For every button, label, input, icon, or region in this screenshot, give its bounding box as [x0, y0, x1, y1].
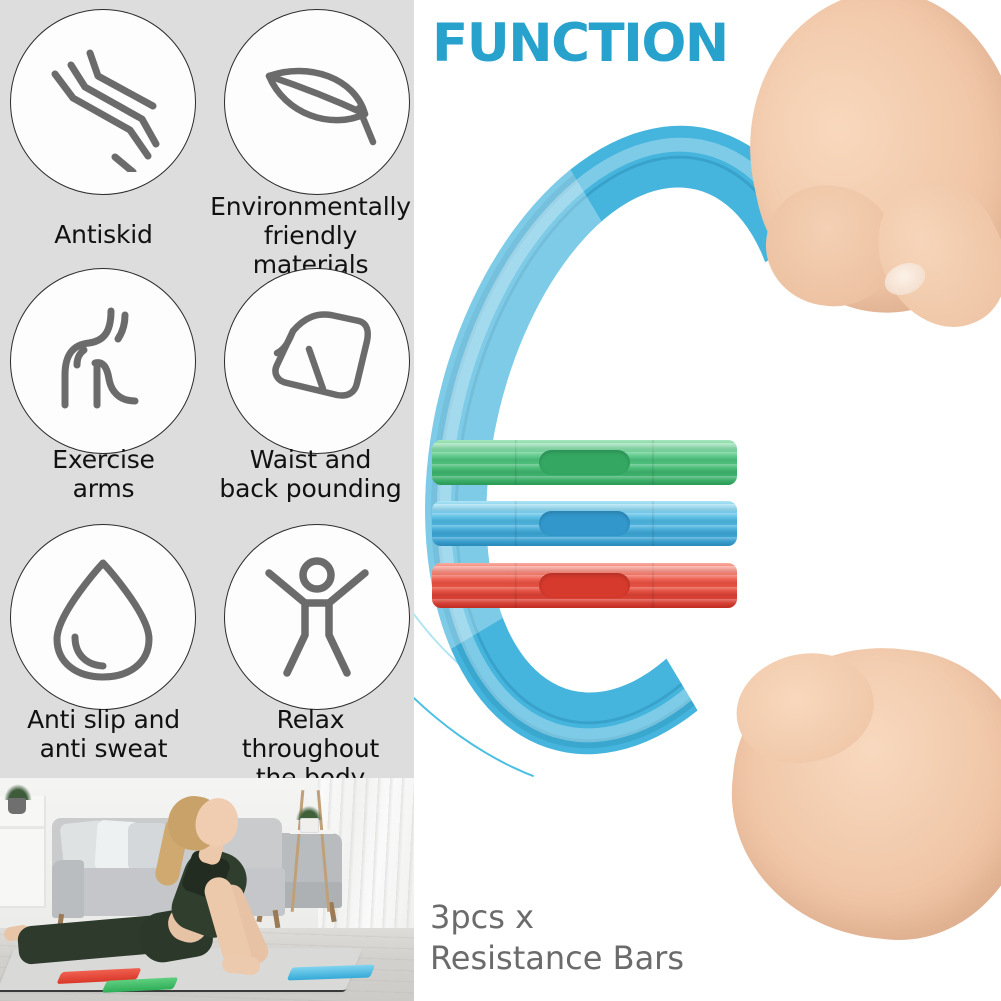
green-bar-grip: [539, 450, 631, 475]
feature-label-anti-sweat: Anti slip and anti sweat: [0, 705, 207, 763]
feature-icon-circle-waist-back: [224, 268, 410, 454]
product-caption: 3pcs x Resistance Bars: [430, 897, 684, 979]
photo-sofa-arm: [52, 860, 84, 918]
red-resistance-bar: [432, 563, 737, 608]
feature-icon-circle-anti-sweat: [10, 524, 196, 710]
feature-label-eco: Environmentally friendly materials: [207, 192, 414, 279]
product-hero-section: FUNCTION 3pcs x Resistance Bars: [414, 0, 1001, 1001]
feature-icon-circle-eco: [224, 9, 410, 195]
feature-label-waist-back: Waist and back pounding: [207, 445, 414, 503]
photo-plant-right-pot: [300, 818, 319, 833]
leaf-icon: [247, 32, 387, 172]
photo-plant-left-pot: [8, 798, 26, 814]
green-resistance-bar: [432, 440, 737, 485]
feature-label-antiskid: Antiskid: [0, 220, 207, 249]
page-title: FUNCTION: [432, 13, 728, 74]
zigzag-lines-icon: [33, 32, 173, 172]
lifestyle-photo-yoga: [0, 778, 414, 1001]
photo-shelf-divider: [0, 826, 44, 829]
red-bar-grip: [539, 573, 631, 598]
feature-icon-circle-relax-body: [224, 524, 410, 710]
feature-panel: Antiskid Environmentally friendly materi…: [0, 0, 414, 778]
feature-icon-circle-antiskid: [10, 9, 196, 195]
blue-resistance-bar: [432, 501, 737, 546]
person-stretch-icon: [247, 547, 387, 687]
massage-pad-icon: [247, 291, 387, 431]
feature-icon-circle-exercise-arms: [10, 268, 196, 454]
product-marketing-image: Antiskid Environmentally friendly materi…: [0, 0, 1001, 1001]
feature-label-exercise-arms: Exercise arms: [0, 445, 207, 503]
water-drop-icon: [33, 547, 173, 687]
arm-flex-icon: [33, 291, 173, 431]
blue-bar-grip: [539, 511, 631, 536]
